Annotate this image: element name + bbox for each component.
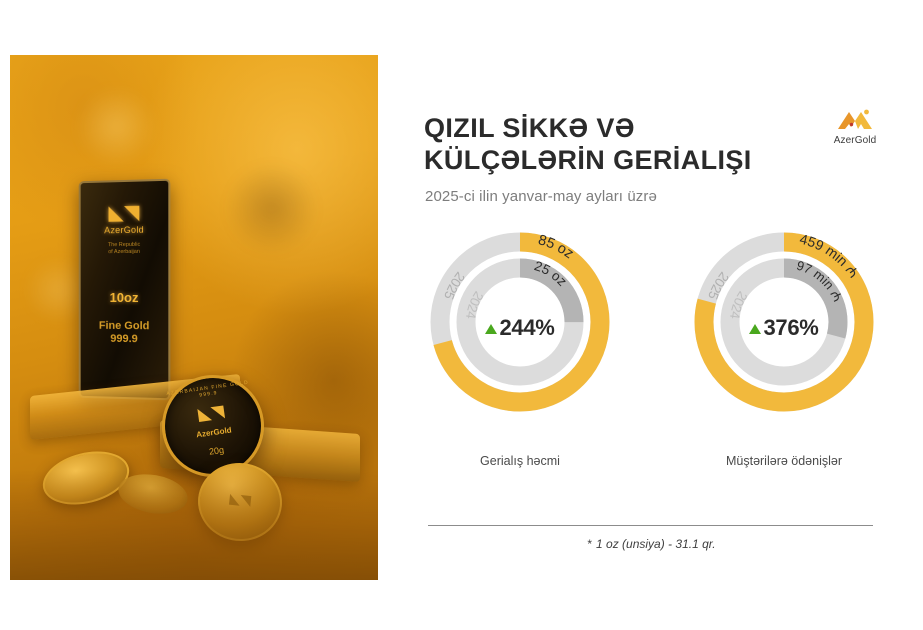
chart-center-value: 376% — [684, 315, 884, 341]
page-subtitle: 2025-ci ilin yanvar-may ayları üzrə — [425, 188, 657, 205]
chart-center-percent: 376% — [763, 315, 818, 340]
photo-floor-shadow — [10, 470, 378, 580]
gold-bar-brand: AzerGold — [104, 225, 144, 236]
chart-caption: Gerialış həcmi — [420, 454, 620, 468]
gold-bar-country-line2: of Azerbaijan — [81, 249, 169, 257]
gold-bar-fine-line1: Fine Gold — [81, 320, 169, 334]
footnote-divider — [428, 525, 873, 526]
donut-chart: 2025 2024 459 min ₼ 97 min ₼ 376 — [684, 222, 884, 422]
gold-bar-fine-line2: 999.9 — [81, 333, 169, 347]
donut-chart: 2025 2024 85 oz 25 oz 244% — [420, 222, 620, 422]
page-title: QIZIL SİKKƏ VƏ KÜLÇƏLƏRİN GERİALIŞI — [424, 112, 804, 176]
footnote-text: 1 oz (unsiya) - 31.1 qr. — [596, 537, 716, 551]
azergold-logo: AzerGold — [822, 105, 888, 146]
gold-bar-fineness: Fine Gold 999.9 — [81, 320, 169, 347]
chart-center-value: 244% — [420, 315, 620, 341]
trend-up-icon — [485, 324, 497, 334]
footnote: *1 oz (unsiya) - 31.1 qr. — [420, 537, 883, 551]
azergold-chevron-logo-icon — [822, 105, 888, 133]
footnote-star: * — [587, 537, 592, 551]
azergold-logo-text: AzerGold — [822, 135, 888, 146]
infographic-canvas: ◣◥ AzerGold The Republic of Azerbaijan 1… — [0, 0, 923, 630]
trend-up-icon — [749, 324, 761, 334]
charts-row: 2025 2024 85 oz 25 oz 244% — [420, 222, 923, 482]
chart-center-percent: 244% — [499, 315, 554, 340]
content-panel: AzerGold QIZIL SİKKƏ VƏ KÜLÇƏLƏRİN GERİA… — [420, 0, 923, 630]
gold-bars-and-coins-photo: ◣◥ AzerGold The Republic of Azerbaijan 1… — [10, 55, 378, 580]
azergold-chevron-icon: ◣◥ — [81, 203, 169, 223]
page-title-line2: KÜLÇƏLƏRİN GERİALIŞI — [424, 144, 804, 176]
chart-gerialis-hecmi: 2025 2024 85 oz 25 oz 244% — [420, 222, 620, 482]
gold-bar-country: The Republic of Azerbaijan — [81, 241, 169, 256]
gold-bar-upright: ◣◥ AzerGold The Republic of Azerbaijan 1… — [79, 179, 171, 401]
coin-weight: 20g — [168, 439, 264, 462]
chart-caption: Müştərilərə ödənişlər — [684, 454, 884, 468]
chart-musterilere-odenisler: 2025 2024 459 min ₼ 97 min ₼ 376 — [684, 222, 884, 482]
page-title-line1: QIZIL SİKKƏ VƏ — [424, 112, 804, 144]
gold-bar-logo: ◣◥ AzerGold — [81, 203, 169, 236]
gold-bar-weight: 10oz — [81, 290, 169, 305]
